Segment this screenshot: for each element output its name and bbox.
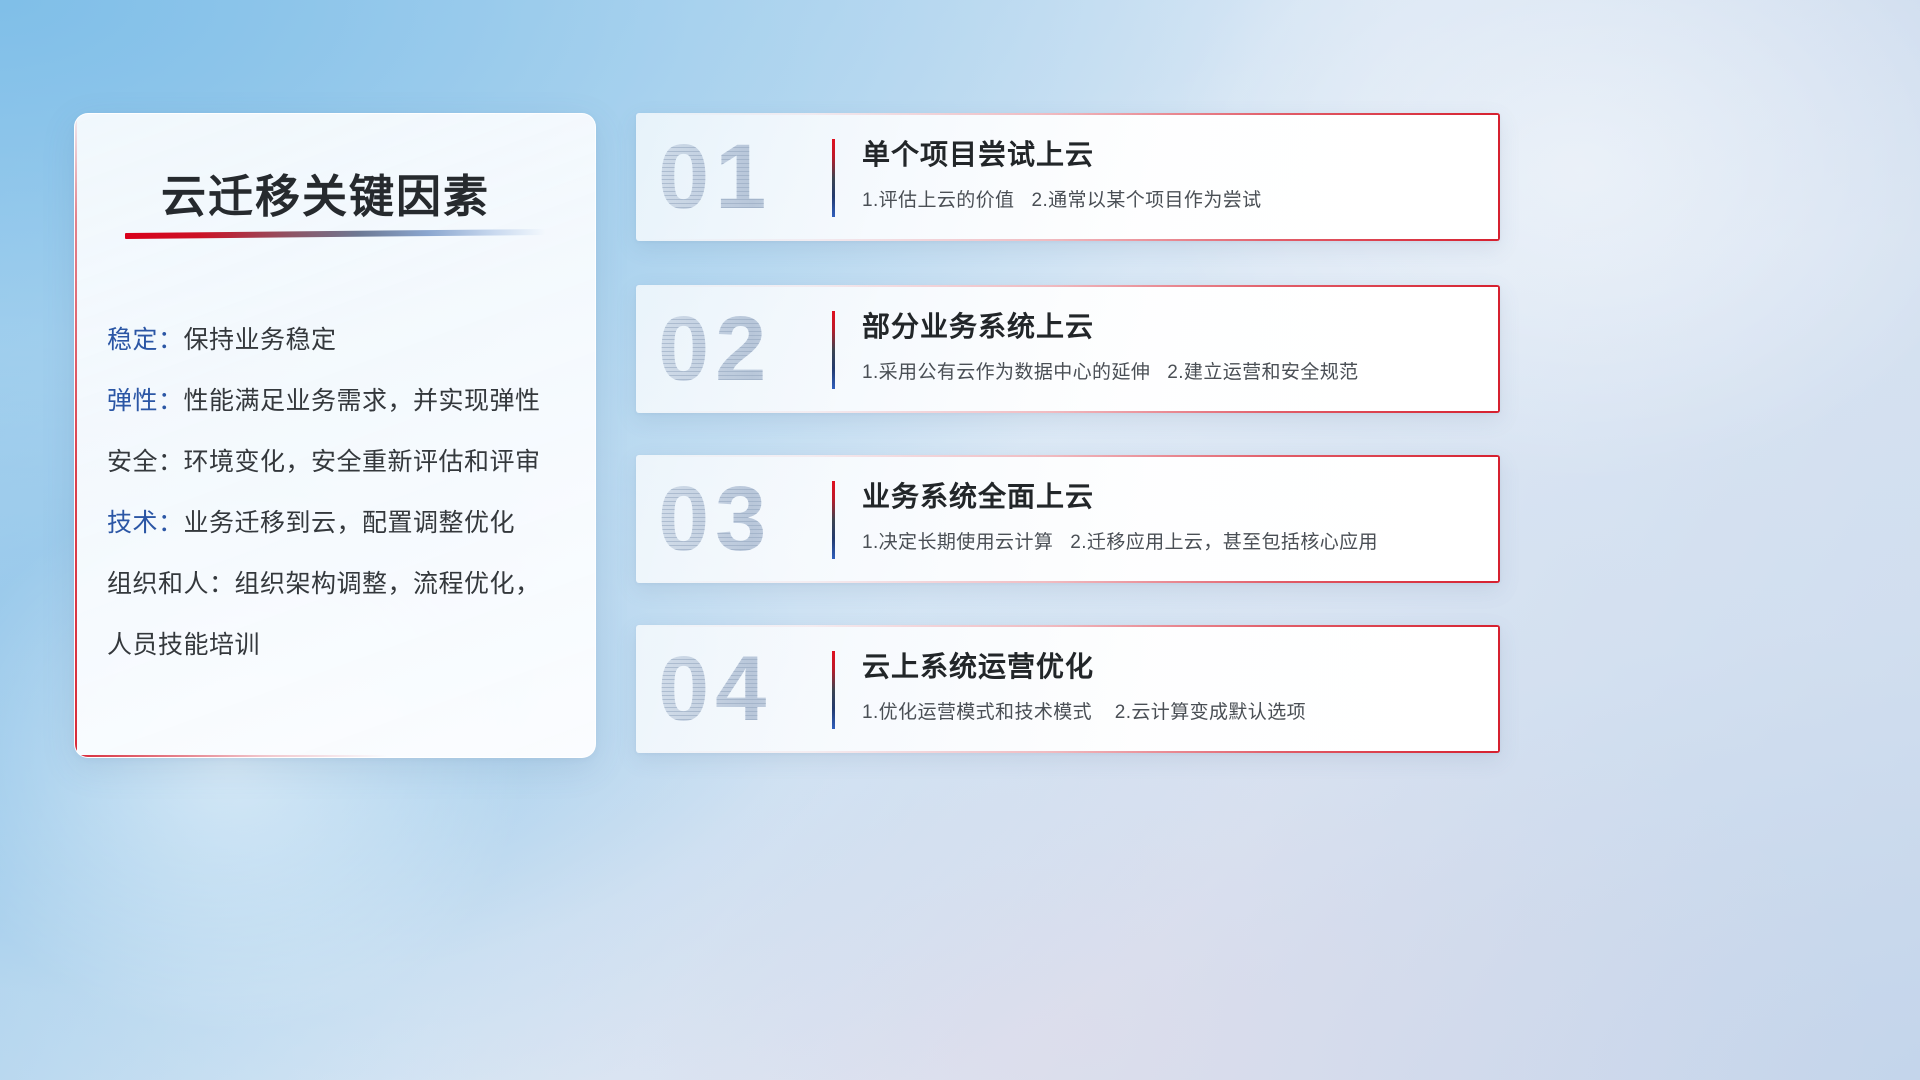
step-description: 1.评估上云的价值 2.通常以某个项目作为尝试 — [862, 185, 1262, 212]
panel-bottom-accent-line — [75, 755, 387, 757]
card-top-border — [636, 285, 1500, 287]
card-bottom-border — [636, 411, 1500, 413]
step-divider-bar — [832, 481, 835, 559]
panel-left-accent-line — [75, 114, 77, 757]
factor-label: 技术： — [107, 509, 184, 537]
step-card-02[interactable]: 02 部分业务系统上云 1.采用公有云作为数据中心的延伸 2.建立运营和安全规范 — [636, 285, 1500, 413]
list-item: 人员技能培训 — [107, 615, 577, 676]
factor-text: 保持业务稳定 — [184, 326, 337, 354]
factor-text: 组织架构调整，流程优化， — [235, 570, 541, 598]
key-factors-list: 稳定：保持业务稳定 弹性：性能满足业务需求，并实现弹性 安全：环境变化，安全重新… — [107, 310, 577, 676]
factor-label: 安全： — [107, 448, 184, 476]
factor-label: 稳定： — [107, 326, 184, 354]
step-description: 1.决定长期使用云计算 2.迁移应用上云，甚至包括核心应用 — [862, 527, 1378, 554]
list-item: 技术：业务迁移到云，配置调整优化 — [107, 493, 577, 554]
card-right-border — [1498, 113, 1500, 241]
list-item: 组织和人：组织架构调整，流程优化， — [107, 554, 577, 615]
factor-text: 性能满足业务需求，并实现弹性 — [184, 387, 541, 415]
step-divider-bar — [832, 311, 835, 389]
card-top-border — [636, 625, 1500, 627]
step-number-watermark: 01 — [658, 119, 868, 235]
step-number-watermark: 04 — [658, 631, 868, 747]
step-title: 业务系统全面上云 — [862, 475, 1094, 515]
card-bottom-border — [636, 581, 1500, 583]
factor-text: 业务迁移到云，配置调整优化 — [184, 509, 516, 537]
card-top-border — [636, 113, 1500, 115]
step-divider-bar — [832, 139, 835, 217]
list-item: 安全：环境变化，安全重新评估和评审 — [107, 432, 577, 493]
list-item: 稳定：保持业务稳定 — [107, 310, 577, 371]
card-right-border — [1498, 285, 1500, 413]
card-right-border — [1498, 625, 1500, 753]
slide-canvas: 云迁移关键因素 稳定：保持业务稳定 弹性：性能满足业务需求，并实现弹性 安全：环… — [0, 0, 1920, 1080]
title-underline-rule — [125, 229, 545, 239]
card-top-border — [636, 455, 1500, 457]
step-card-04[interactable]: 04 云上系统运营优化 1.优化运营模式和技术模式 2.云计算变成默认选项 — [636, 625, 1500, 753]
step-description: 1.采用公有云作为数据中心的延伸 2.建立运营和安全规范 — [862, 357, 1359, 384]
step-divider-bar — [832, 651, 835, 729]
card-right-border — [1498, 455, 1500, 583]
card-bottom-border — [636, 751, 1500, 753]
step-title: 单个项目尝试上云 — [862, 133, 1094, 173]
step-title: 云上系统运营优化 — [862, 645, 1094, 685]
factor-text: 人员技能培训 — [107, 631, 260, 659]
key-factors-panel: 云迁移关键因素 稳定：保持业务稳定 弹性：性能满足业务需求，并实现弹性 安全：环… — [74, 113, 596, 758]
step-title: 部分业务系统上云 — [862, 305, 1094, 345]
factor-text: 环境变化，安全重新评估和评审 — [184, 448, 541, 476]
step-number-watermark: 02 — [658, 291, 868, 407]
page-title: 云迁移关键因素 — [161, 160, 490, 225]
step-number-watermark: 03 — [658, 461, 868, 577]
step-description: 1.优化运营模式和技术模式 2.云计算变成默认选项 — [862, 697, 1306, 724]
step-card-01[interactable]: 01 单个项目尝试上云 1.评估上云的价值 2.通常以某个项目作为尝试 — [636, 113, 1500, 241]
factor-label: 组织和人： — [107, 570, 235, 598]
list-item: 弹性：性能满足业务需求，并实现弹性 — [107, 371, 577, 432]
step-card-03[interactable]: 03 业务系统全面上云 1.决定长期使用云计算 2.迁移应用上云，甚至包括核心应… — [636, 455, 1500, 583]
card-bottom-border — [636, 239, 1500, 241]
factor-label: 弹性： — [107, 387, 184, 415]
